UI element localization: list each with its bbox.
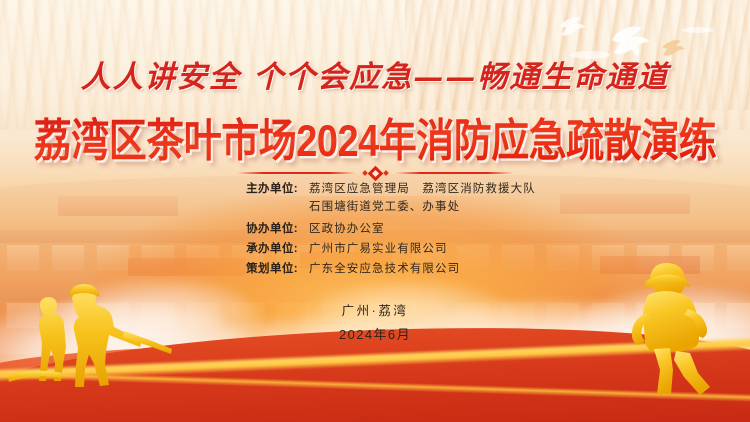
organizer-row: 承办单位: 广州市广易实业有限公司 — [210, 240, 540, 256]
organizer-value: 广州市广易实业有限公司 — [298, 240, 540, 256]
organizer-label: 策划单位: — [210, 260, 298, 276]
poster-content: 人人讲安全 个个会应急——畅通生命通道 荔湾区茶叶市场2024年消防应急疏散演练… — [0, 0, 750, 422]
diamond-ornament-icon — [363, 168, 388, 179]
organizer-row: 协办单位: 区政协办公室 — [210, 220, 540, 236]
divider — [237, 166, 513, 180]
organizer-label: 主办单位: — [210, 180, 298, 196]
poster-canvas: 人人讲安全 个个会应急——畅通生命通道 荔湾区茶叶市场2024年消防应急疏散演练… — [0, 0, 750, 422]
organizer-row: 主办单位: 石围塘街道党工委、办事处 — [210, 198, 540, 214]
footer-place: 广州·荔湾 — [0, 300, 750, 319]
organizer-label: 承办单位: — [210, 240, 298, 256]
organizer-row: 主办单位: 荔湾区应急管理局 荔湾区消防救援大队 — [210, 180, 540, 196]
poster-footer: 广州·荔湾 2024年6月 — [0, 300, 750, 343]
organizer-value: 区政协办公室 — [298, 220, 540, 236]
organizer-label: 协办单位: — [210, 220, 298, 236]
poster-main-title: 荔湾区茶叶市场2024年消防应急疏散演练 — [0, 104, 750, 169]
organizer-value: 广东全安应急技术有限公司 — [298, 260, 540, 276]
poster-slogan: 人人讲安全 个个会应急——畅通生命通道 — [0, 52, 750, 96]
footer-date: 2024年6月 — [0, 324, 750, 343]
organizer-value: 荔湾区应急管理局 荔湾区消防救援大队 — [298, 180, 540, 196]
organizer-list: 主办单位: 荔湾区应急管理局 荔湾区消防救援大队 主办单位: 石围塘街道党工委、… — [0, 180, 750, 280]
divider-line-left — [237, 172, 356, 174]
organizer-value: 石围塘街道党工委、办事处 — [298, 198, 540, 214]
organizer-row: 策划单位: 广东全安应急技术有限公司 — [210, 260, 540, 276]
divider-line-right — [395, 172, 514, 174]
